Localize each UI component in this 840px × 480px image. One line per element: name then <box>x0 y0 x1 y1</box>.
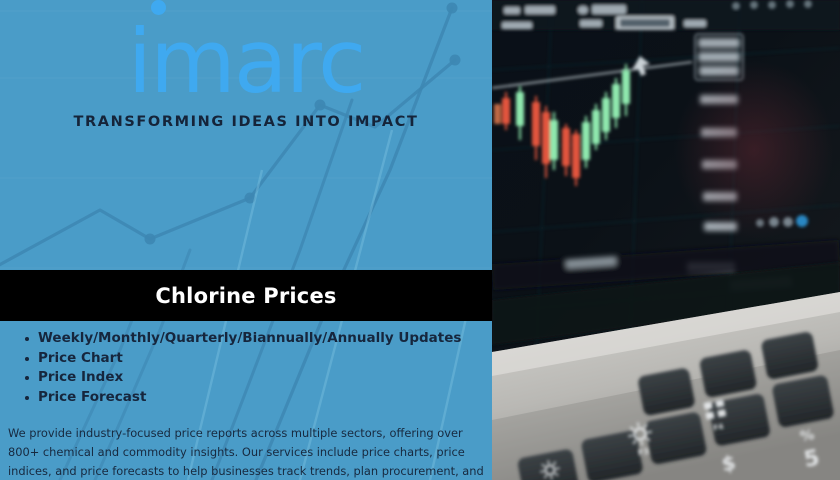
list-item: Weekly/Monthly/Quarterly/Biannually/Annu… <box>38 329 461 349</box>
list-item: Price Chart <box>38 349 461 369</box>
feature-list: Weekly/Monthly/Quarterly/Biannually/Annu… <box>18 329 461 407</box>
page-title: Chlorine Prices <box>155 284 336 308</box>
list-item: Price Forecast <box>38 388 461 408</box>
brand-logo: imarc TRANSFORMING IDEAS INTO IMPACT <box>0 18 492 130</box>
logo-wordmark: imarc <box>128 18 365 106</box>
promo-banner-page: imarc TRANSFORMING IDEAS INTO IMPACT Chl… <box>0 0 840 480</box>
description-paragraph: We provide industry-focused price report… <box>8 424 490 480</box>
left-info-panel: imarc TRANSFORMING IDEAS INTO IMPACT Chl… <box>0 0 492 480</box>
laptop-trading-photo: F3 F4 $ % 5 <box>492 0 840 480</box>
logo-wordmark-text: imarc <box>128 10 365 113</box>
brand-tagline: TRANSFORMING IDEAS INTO IMPACT <box>0 114 492 130</box>
title-banner: Chlorine Prices <box>0 270 492 321</box>
list-item: Price Index <box>38 368 461 388</box>
svg-text:%: % <box>799 427 816 445</box>
logo-dot-icon <box>151 0 166 15</box>
